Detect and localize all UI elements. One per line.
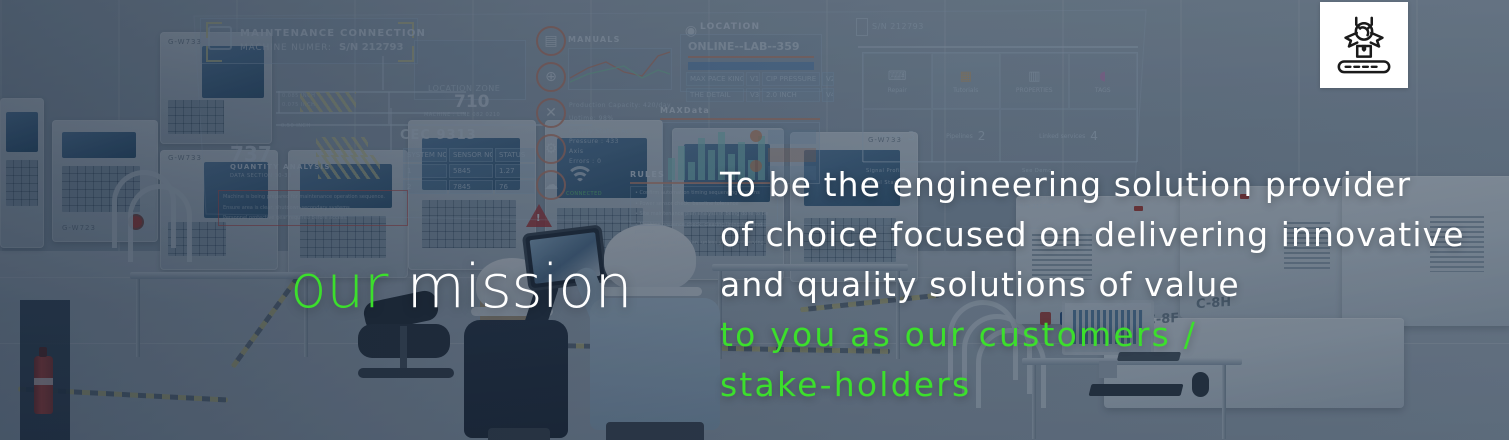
robotic-claw-conveyor-logo [1333, 14, 1395, 76]
mission-line-3: and quality solutions of value [720, 260, 1480, 310]
mission-statement: To be the engineering solution provider … [720, 160, 1480, 410]
page-title: our mission [290, 257, 632, 317]
mission-line-1: To be the engineering solution provider [720, 160, 1480, 210]
mission-line-2: of choice focused on delivering innovati… [720, 210, 1480, 260]
mission-line-5: stake-holders [720, 360, 1480, 410]
mission-line-4: to you as our customers / [720, 310, 1480, 360]
page-title-word-our: our [290, 252, 388, 322]
banner-copy: our mission To be the engineering soluti… [0, 0, 1509, 440]
company-logo-badge[interactable] [1320, 2, 1408, 88]
page-title-word-mission: mission [388, 252, 632, 322]
our-mission-banner: G-W723 G-W733 G-W733 [0, 0, 1509, 440]
